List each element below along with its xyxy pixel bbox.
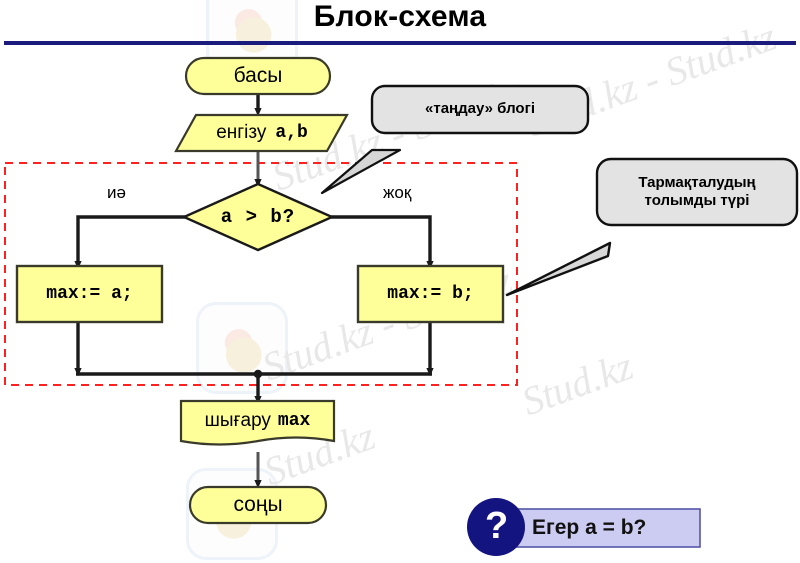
node-assign-a-label: max:= a; [17, 266, 162, 322]
callout-selection-block-text: «таңдау» блогі [372, 86, 588, 133]
node-input-label-plain: енгізу [216, 122, 266, 144]
node-output-label-mono: max [278, 411, 310, 431]
page-title: Блок-схема [0, 0, 800, 34]
branch-label-yes: иә [107, 183, 126, 203]
question-mark-icon: ? [485, 507, 508, 545]
node-output-label: шығару max [181, 404, 334, 438]
callout-full-branching-text: Тармақталудың толымды түрі [597, 159, 797, 225]
slide-canvas: Stud.kz - Stud.kz Stud.kz - Stud.kz Stud… [0, 0, 800, 563]
branch-label-no: жоқ [383, 183, 411, 203]
connector-yes-branch [78, 217, 185, 265]
callout-line: толымды түрі [645, 192, 750, 210]
question-badge-label: Егер a = b? [532, 516, 646, 540]
node-assign-b-label: max:= b; [358, 266, 503, 322]
title-divider [4, 41, 796, 45]
node-input-label: енгізу a,b [186, 115, 338, 151]
node-input-label-mono: a,b [275, 123, 307, 143]
callout-line: «таңдау» блогі [425, 100, 535, 118]
callout-line: Тармақталудың [638, 174, 755, 192]
node-decision-label: a > b? [184, 199, 332, 235]
node-start-label: басы [186, 58, 330, 94]
connector-no-branch [331, 217, 430, 265]
node-output-label-plain: шығару [205, 410, 271, 432]
callout-tail-branching [507, 243, 610, 295]
node-end-label: соңы [190, 487, 326, 523]
